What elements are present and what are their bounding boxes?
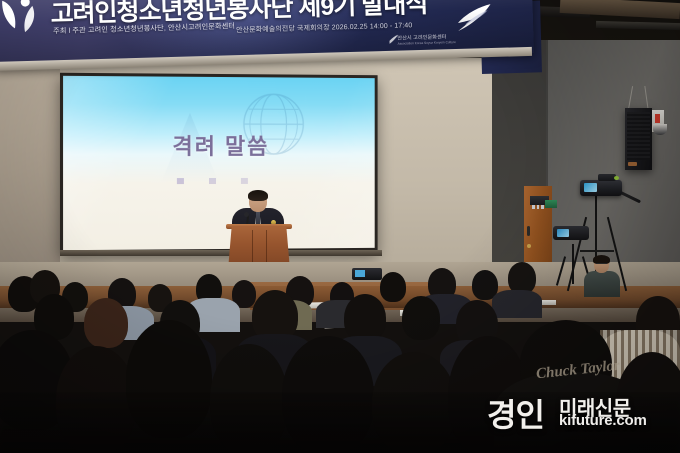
banner-org-logo: 안산시 고려인문화센터 Association Korea Soyuz Kory… [397,33,456,46]
exit-sign-icon [545,200,557,208]
audience-head [344,294,386,342]
wall-speaker-badge [628,162,637,166]
wall-speaker-grill [627,112,650,160]
photo-scene: 격려 말씀 [0,0,680,453]
glasses-icon [596,263,607,267]
staff-body [584,271,620,297]
tripod-column [572,244,574,284]
watermark-url: kifuture.com [559,412,647,429]
watermark: 경인 미래신문 kifuture.com [487,390,673,432]
camera-lcd-screen [584,183,597,192]
projection-screen: 격려 말씀 [63,76,375,250]
banner-org-name: 안산시 고려인문화센터 [397,34,446,41]
camera-lcd-screen [557,229,569,237]
screen-bottom-bar [60,250,382,256]
emergency-light-lens [655,114,660,123]
cctv-dome-icon [653,124,667,135]
tripod-spreader [580,250,614,252]
banner-host-line: 주최 l 주관 고려인 청소년청년봉사단, 안산시고려인문화센터 [53,21,235,36]
microphone-head-icon [244,212,249,217]
door-knob [527,244,531,248]
camera-lcd-screen [355,270,365,277]
banner-org-subname: Association Korea Soyuz Koryoin Culture [397,40,455,46]
speaker-hair [248,190,268,201]
banner-title: 고려인청소년청년봉사단 제9기 발대식 [50,0,428,30]
audience-body [492,290,542,318]
org-mark-icon [389,35,398,44]
wing-icon [454,2,493,33]
audience-head [380,272,406,302]
watermark-logo: 경인 [487,390,544,436]
door-handle [527,226,530,236]
person-figure-icon [0,0,43,35]
audience-head [402,296,440,340]
banner-venue-line: 안산문화예술의전당 국제회의장 2026.02.25 14:00 - 17:40 [236,20,413,35]
audience-head [84,298,128,348]
projection-screen-frame: 격려 말씀 [60,73,378,254]
screen-glare [63,76,375,250]
camera-indicator-icon [614,176,619,180]
